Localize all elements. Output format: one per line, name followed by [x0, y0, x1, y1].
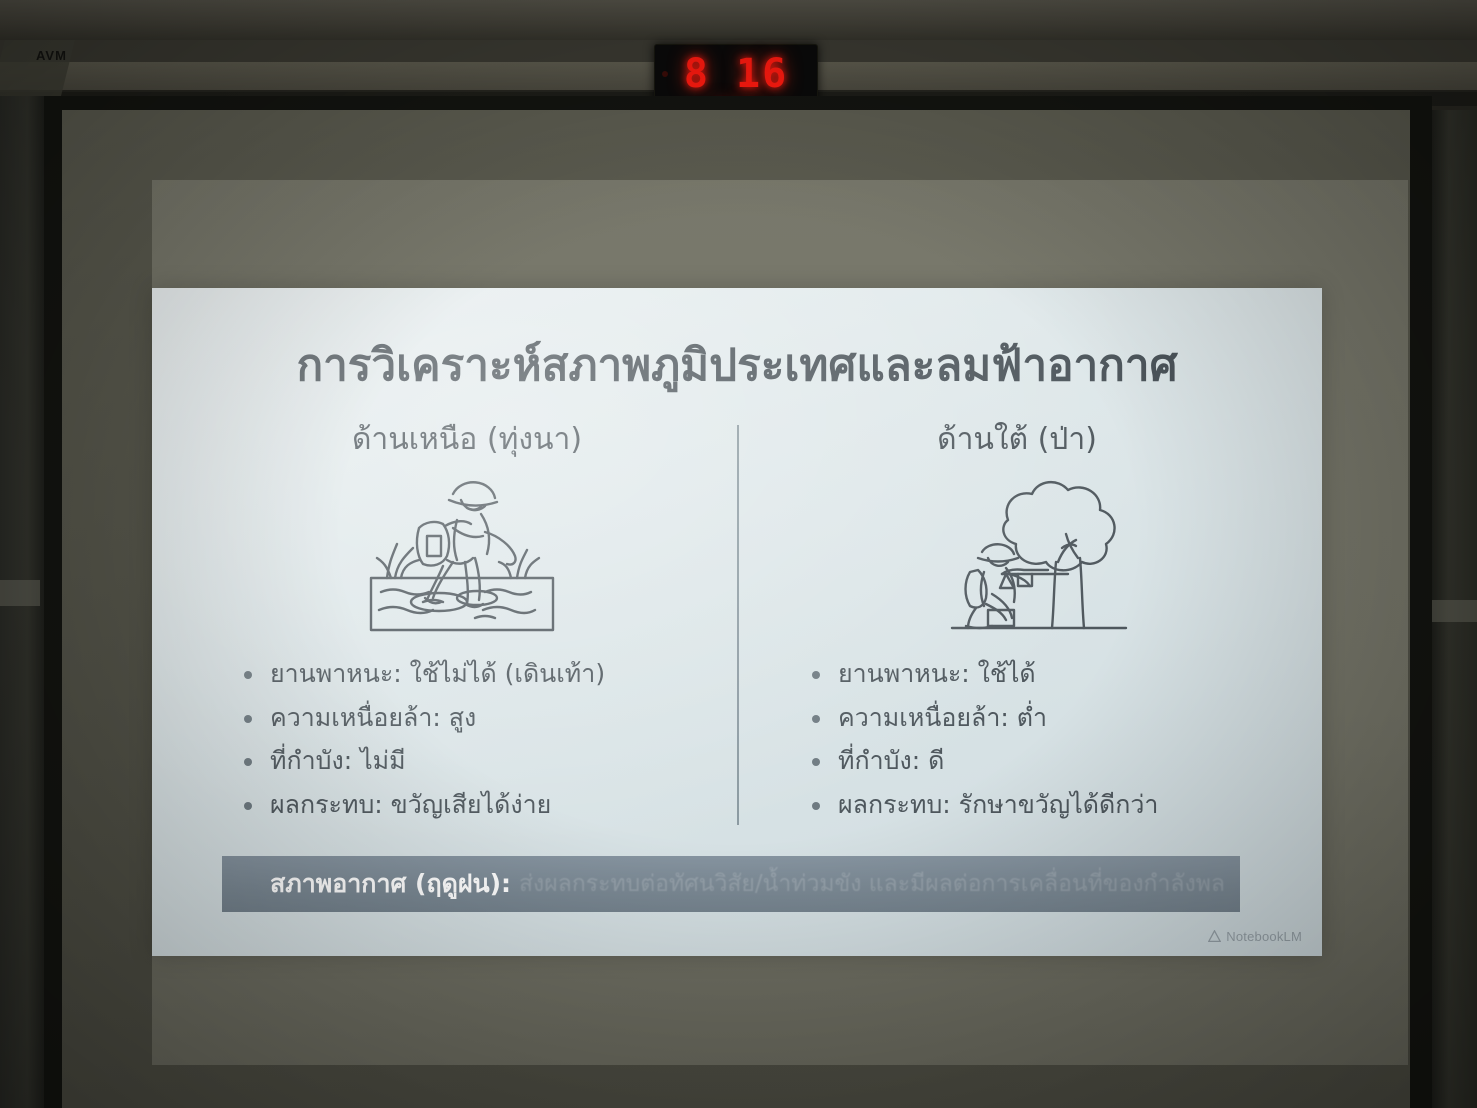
- list-item: ยานพาหนะ: ใช้ไม่ได้ (เดินเท้า): [240, 652, 700, 696]
- column-heading-south: ด้านใต้ (ป่า): [852, 416, 1182, 463]
- projector-room-photo: AVM 8 16 28 การวิเคราะห์สภาพภูมิประเทศแล…: [0, 0, 1477, 1108]
- list-item: ความเหนื่อยล้า: ต่ำ: [808, 696, 1278, 740]
- column-divider: [737, 425, 739, 825]
- wall-strip-left: [0, 580, 40, 606]
- weather-banner-label: สภาพอากาศ (ฤดูฝน):: [270, 864, 511, 904]
- wall-marking-label: AVM: [36, 48, 67, 63]
- column-heading-north: ด้านเหนือ (ทุ่งนา): [302, 416, 632, 463]
- presentation-slide: การวิเคราะห์สภาพภูมิประเทศและลมฟ้าอากาศ …: [152, 288, 1322, 956]
- slide-title: การวิเคราะห์สภาพภูมิประเทศและลมฟ้าอากาศ: [152, 330, 1322, 400]
- bullet-list-north: ยานพาหนะ: ใช้ไม่ได้ (เดินเท้า) ความเหนื่…: [240, 652, 700, 826]
- watermark-text: NotebookLM: [1226, 929, 1302, 944]
- list-item: ผลกระทบ: รักษาขวัญได้ดีกว่า: [808, 783, 1278, 827]
- list-item: ผลกระทบ: ขวัญเสียได้ง่าย: [240, 783, 700, 827]
- notebooklm-watermark: NotebookLM: [1208, 929, 1302, 944]
- soldier-wading-rice-paddy-icon: [357, 470, 567, 640]
- soldier-kneeling-under-tree-icon: [930, 470, 1140, 640]
- list-item: ที่กำบัง: ดี: [808, 739, 1278, 783]
- ceiling-beam-upper: [0, 0, 1477, 40]
- list-item: ความเหนื่อยล้า: สูง: [240, 696, 700, 740]
- list-item: ที่กำบัง: ไม่มี: [240, 739, 700, 783]
- weather-banner-detail: ส่งผลกระทบต่อทัศนวิสัย/น้ำท่วมขัง และมีผ…: [519, 866, 1225, 902]
- list-item: ยานพาหนะ: ใช้ได้: [808, 652, 1278, 696]
- weather-summary-banner: สภาพอากาศ (ฤดูฝน): ส่งผลกระทบต่อทัศนวิสั…: [222, 856, 1240, 912]
- notebooklm-logo-icon: [1208, 930, 1221, 943]
- wall-strip-right: [1430, 600, 1477, 622]
- bullet-list-south: ยานพาหนะ: ใช้ได้ ความเหนื่อยล้า: ต่ำ ที่…: [808, 652, 1278, 826]
